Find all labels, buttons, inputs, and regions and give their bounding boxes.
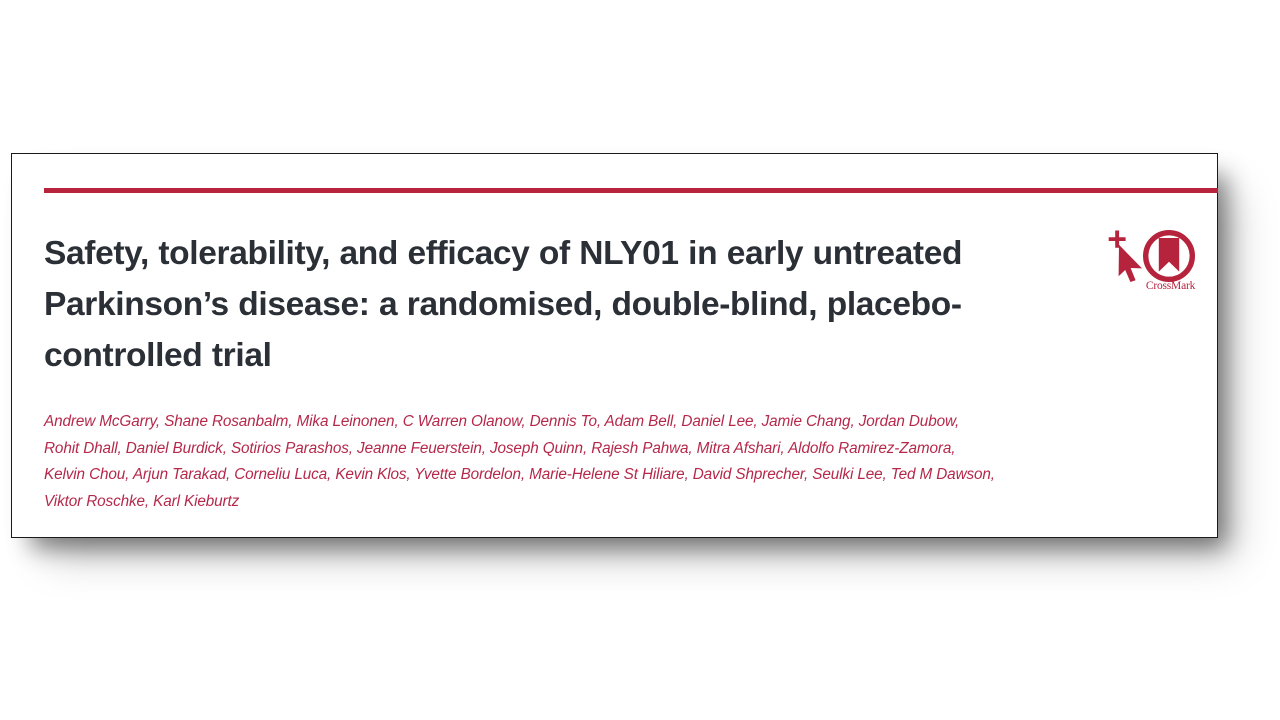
author-line: Rohit Dhall, Daniel Burdick, Sotirios Pa…: [44, 436, 1074, 463]
author-line: Andrew McGarry, Shane Rosanbalm, Mika Le…: [44, 409, 1074, 436]
author-list: Andrew McGarry, Shane Rosanbalm, Mika Le…: [44, 409, 1074, 516]
article-title-card: Safety, tolerability, and efficacy of NL…: [11, 153, 1218, 538]
top-red-rule: [44, 188, 1218, 193]
crossmark-cursor-icon: [1102, 230, 1148, 282]
page-title: Safety, tolerability, and efficacy of NL…: [44, 228, 1084, 381]
title-block: Safety, tolerability, and efficacy of NL…: [44, 228, 1084, 381]
crossmark-label: CrossMark: [1136, 280, 1205, 293]
author-line: Kelvin Chou, Arjun Tarakad, Corneliu Luc…: [44, 462, 1074, 489]
crossmark-logo[interactable]: CrossMark: [1100, 228, 1205, 306]
author-line: Viktor Roschke, Karl Kieburtz: [44, 489, 1074, 516]
crossmark-badge-icon: [1143, 230, 1195, 282]
screenshot-canvas: Safety, tolerability, and efficacy of NL…: [0, 0, 1280, 720]
